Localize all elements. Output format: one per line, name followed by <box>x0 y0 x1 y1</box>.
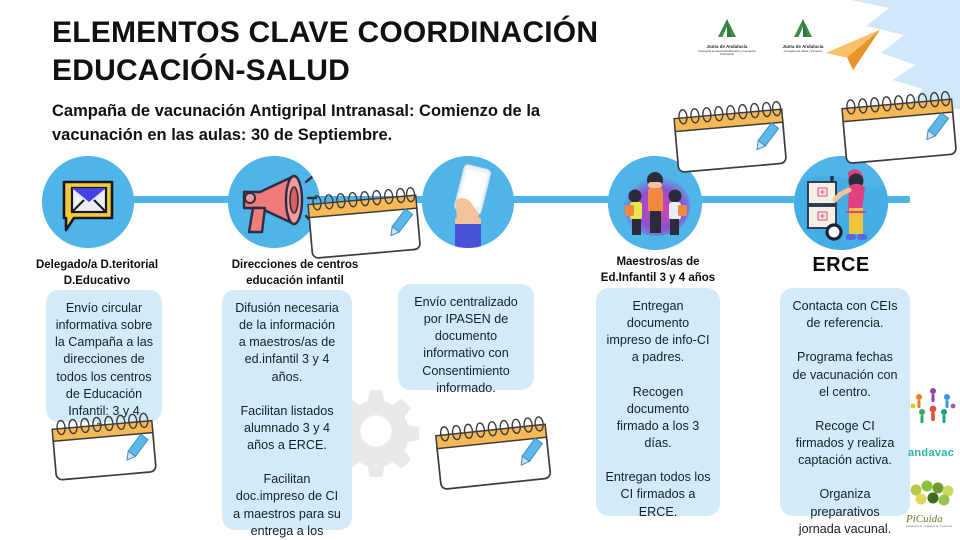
logo-junta-educacion-name: Junta de Andalucía <box>692 44 762 49</box>
stage-label-erce: ERCE <box>786 252 896 279</box>
junta-a-icon <box>716 18 738 38</box>
notepad-icon <box>424 414 560 494</box>
logo-junta-salud-name: Junta de Andalucía <box>768 44 838 49</box>
stage-icon-erce <box>794 156 888 250</box>
logo-junta-salud: Junta de Andalucía Consejería de Salud y… <box>768 18 838 53</box>
stage-body-erce: Contacta con CEIs de referencia. Program… <box>780 288 910 516</box>
stage-label-maestros: Maestros/as de Ed.Infantil 3 y 4 años <box>594 255 722 286</box>
infographic-canvas: ELEMENTOS CLAVE COORDINACIÓN EDUCACIÓN-S… <box>0 0 960 540</box>
notepad-icon <box>42 412 164 484</box>
stage-body-ipasen: Envío centralizado por IPASEN de documen… <box>398 284 534 390</box>
stage-label-delegado: Delegado/a D.teritorial D.Educativo <box>18 258 176 289</box>
logo-people-circle <box>910 382 956 426</box>
stage-icon-ipasen <box>422 156 514 248</box>
logo-picuida: PiCuida Estrategia de Cuidados de Andalu… <box>906 478 958 528</box>
logo-picuida-name: PiCuida <box>906 513 958 525</box>
stage-body-direcciones: Difusión necesaria de la información a m… <box>222 290 352 530</box>
page-subtitle: Campaña de vacunación Antigripal Intrana… <box>52 100 612 148</box>
logo-picuida-sub: Estrategia de Cuidados de Andalucía <box>906 525 958 528</box>
notepad-icon <box>296 186 428 262</box>
title-line-2: EDUCACIÓN-SALUD <box>52 52 692 90</box>
logo-junta-educacion: Junta de Andalucía Consejería de Desarro… <box>692 18 762 56</box>
stage-label-direcciones: Direcciones de centros educación infanti… <box>212 258 378 289</box>
picuida-dots-icon <box>906 478 958 508</box>
page-title: ELEMENTOS CLAVE COORDINACIÓN EDUCACIÓN-S… <box>52 14 692 91</box>
logo-andavac: andavac <box>908 447 954 459</box>
notepad-icon <box>830 90 960 168</box>
stage-body-delegado: Envío circular informativa sobre la Camp… <box>46 290 162 422</box>
notepad-icon <box>662 100 794 176</box>
junta-a-icon <box>792 18 814 38</box>
logo-junta-educacion-sub: Consejería de Desarrollo Educativo y For… <box>692 50 762 57</box>
logo-junta-salud-sub: Consejería de Salud y Consumo <box>768 50 838 53</box>
stage-body-maestros: Entregan documento impreso de info-CI a … <box>596 288 720 516</box>
title-line-1: ELEMENTOS CLAVE COORDINACIÓN <box>52 14 692 52</box>
stage-icon-delegado <box>42 156 134 248</box>
